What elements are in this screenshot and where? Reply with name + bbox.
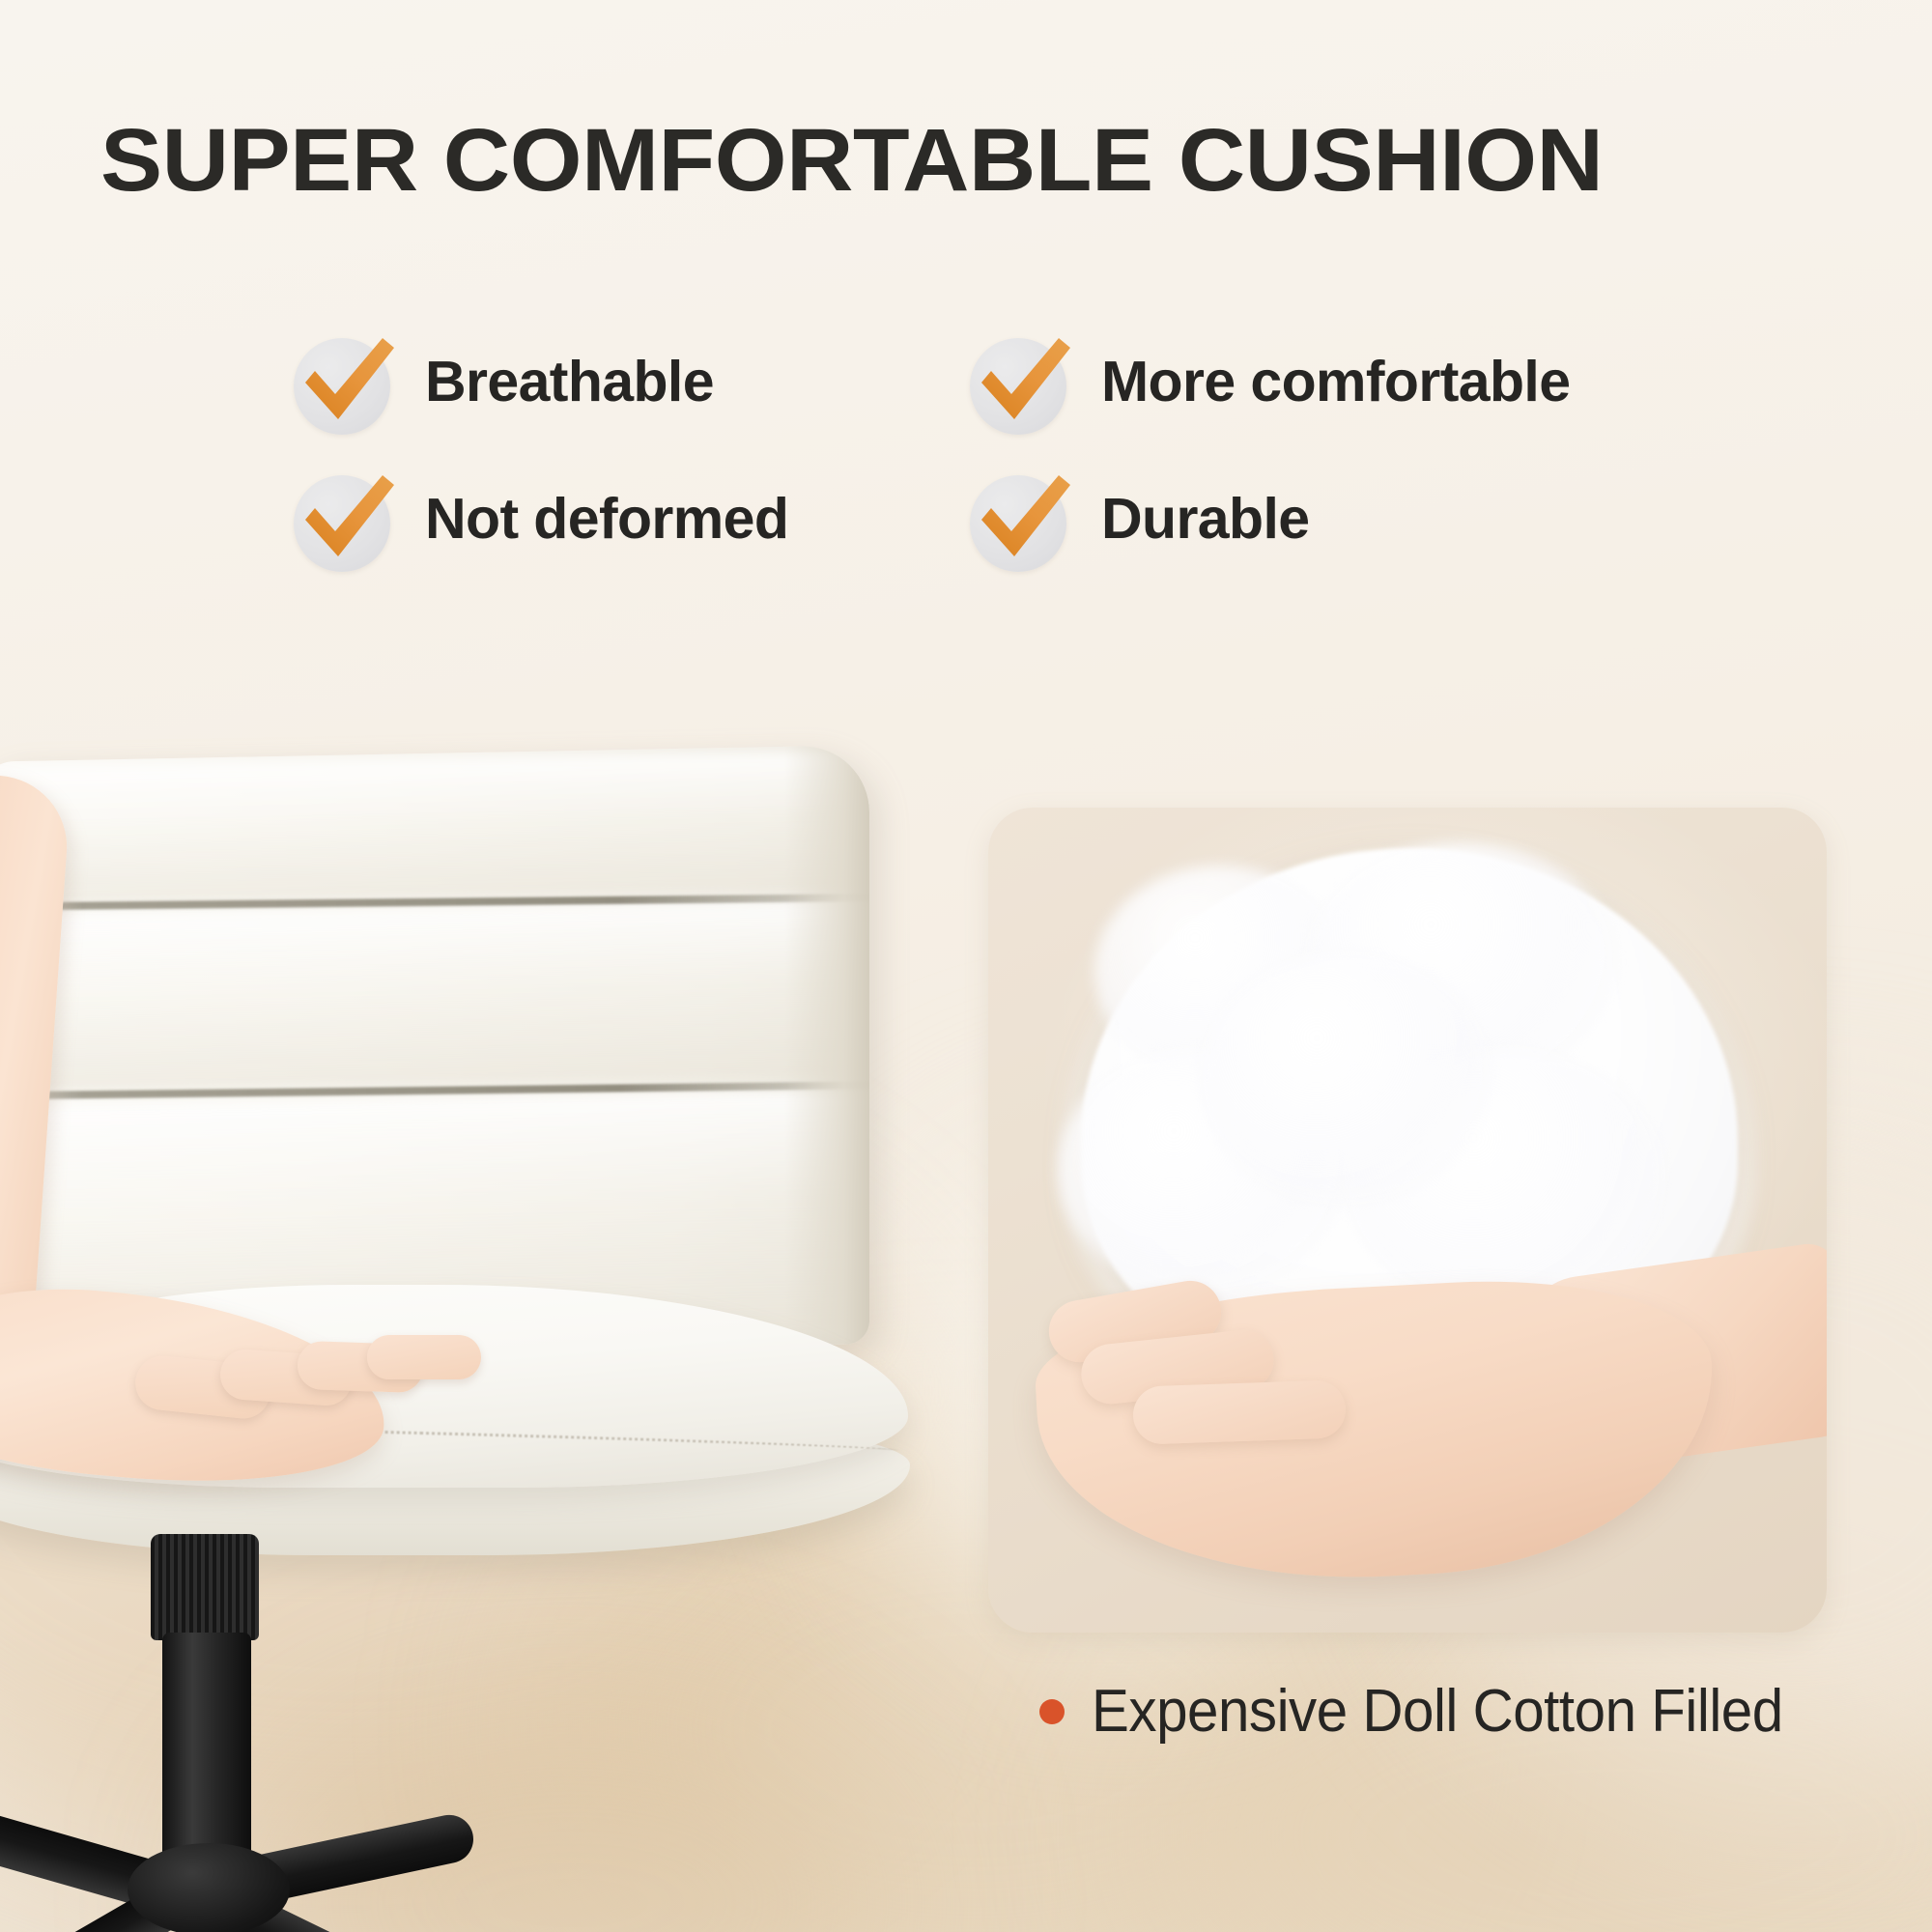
chair-photo — [0, 715, 947, 1932]
check-icon — [290, 462, 404, 576]
check-icon — [290, 325, 404, 439]
feature-label: Durable — [1101, 486, 1309, 552]
cotton-caption: Expensive Doll Cotton Filled — [1039, 1677, 1827, 1746]
caption-label: Expensive Doll Cotton Filled — [1092, 1677, 1783, 1746]
product-feature-poster: SUPER COMFORTABLE CUSHION Breathable — [0, 0, 1932, 1932]
gas-cylinder-collar — [151, 1534, 259, 1640]
hand-finger — [367, 1335, 481, 1379]
feature-item-breathable: Breathable — [290, 319, 714, 444]
feature-item-durable: Durable — [966, 456, 1309, 582]
page-title: SUPER COMFORTABLE CUSHION — [100, 116, 1918, 205]
backrest-panel — [0, 899, 869, 1093]
check-icon-mark — [290, 325, 404, 439]
feature-item-more-comfortable: More comfortable — [966, 319, 1570, 444]
chair-base-hub — [128, 1843, 290, 1932]
cotton-tuft — [1201, 952, 1491, 1204]
bullet-dot-icon — [1039, 1699, 1065, 1724]
feature-item-not-deformed: Not deformed — [290, 456, 788, 582]
feature-label: Breathable — [425, 349, 714, 414]
check-icon-mark — [290, 462, 404, 576]
check-icon — [966, 325, 1080, 439]
check-icon-mark — [966, 325, 1080, 439]
feature-label: More comfortable — [1101, 349, 1570, 414]
feature-label: Not deformed — [425, 486, 788, 552]
hand-finger — [1132, 1379, 1347, 1445]
check-icon — [966, 462, 1080, 576]
check-icon-mark — [966, 462, 1080, 576]
cotton-photo-card — [988, 808, 1827, 1633]
chair-backrest — [0, 745, 869, 1361]
backrest-panel — [0, 751, 869, 905]
